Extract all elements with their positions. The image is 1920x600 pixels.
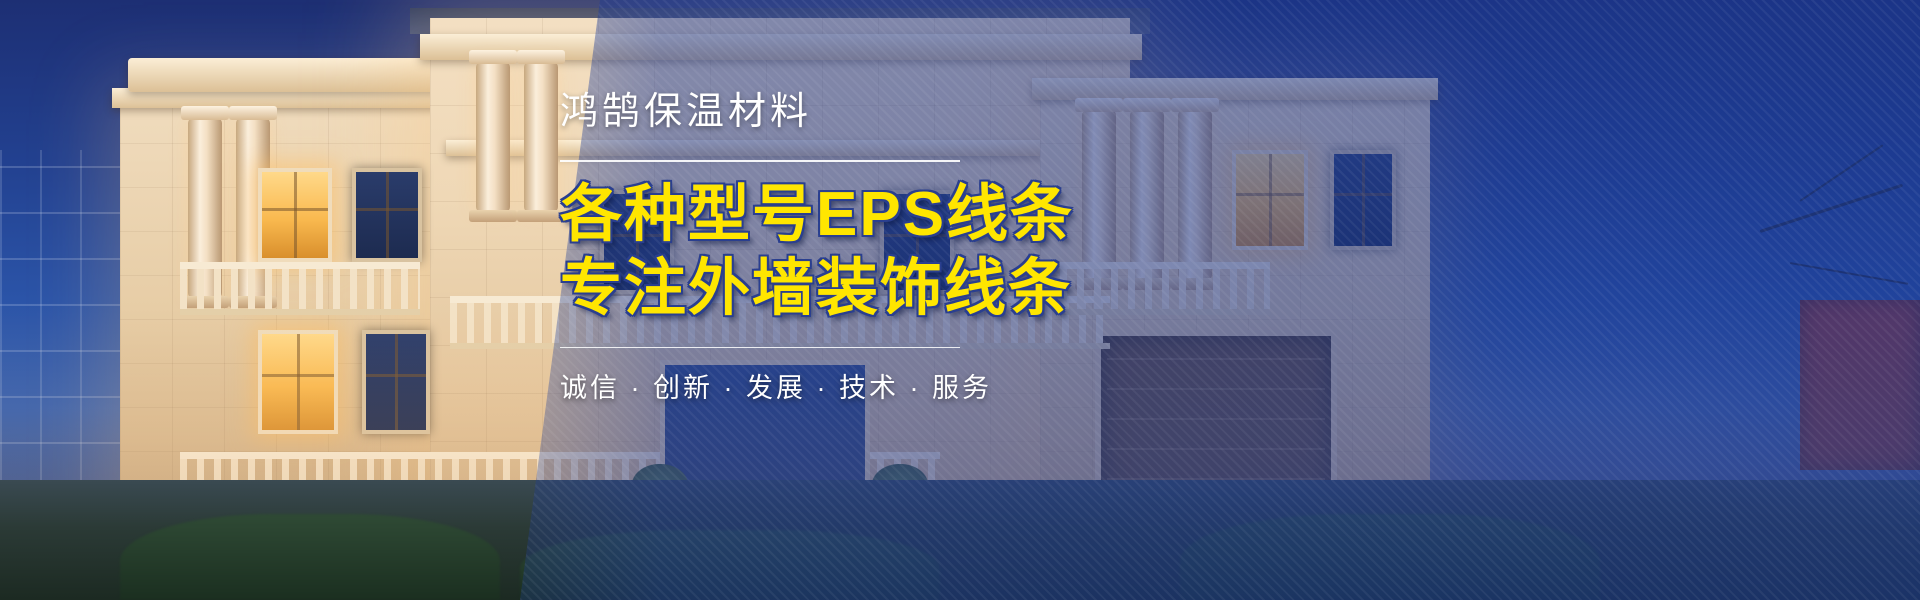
divider-top <box>560 160 960 162</box>
column <box>476 62 510 212</box>
hero-banner: 鸿鹄保温材料 各种型号EPS线条 专注外墙装饰线条 诚信 · 创新 · 发展 ·… <box>0 0 1920 600</box>
brand-name: 鸿鹄保温材料 <box>560 92 1320 134</box>
pediment <box>128 58 444 92</box>
tagline: 诚信 · 创新 · 发展 · 技术 · 服务 <box>560 366 1320 405</box>
window <box>352 168 422 262</box>
headline-line-1: 各种型号EPS线条 <box>560 178 1320 252</box>
lit-window <box>258 168 332 262</box>
column <box>524 62 558 212</box>
divider-bottom <box>560 347 960 348</box>
hedge <box>120 514 500 600</box>
banner-copy: 鸿鹄保温材料 各种型号EPS线条 专注外墙装饰线条 诚信 · 创新 · 发展 ·… <box>560 92 1320 405</box>
headline-line-2: 专注外墙装饰线条 <box>560 252 1320 326</box>
